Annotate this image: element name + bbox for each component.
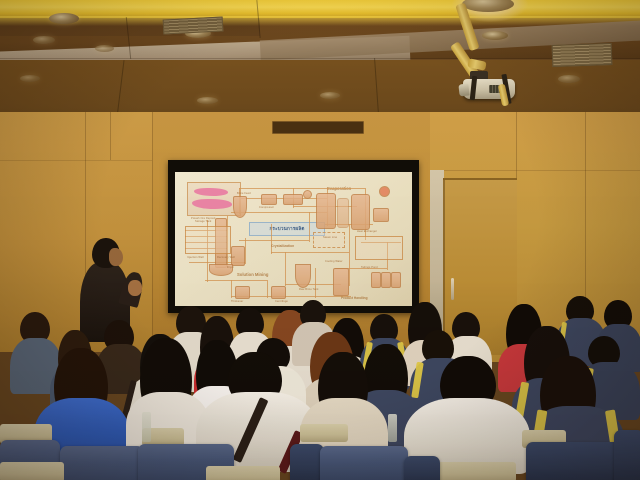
slide-pipe bbox=[239, 188, 365, 189]
slide-pipe bbox=[349, 224, 350, 286]
slide-pipe bbox=[239, 240, 309, 241]
slide-equipment-marker bbox=[379, 186, 390, 197]
projection-screen[interactable]: Potash Ore Deposit Evaporation Solution … bbox=[175, 172, 412, 306]
wall-seam bbox=[430, 170, 640, 171]
slide-equipment-tank bbox=[235, 286, 250, 299]
water-bottle[interactable] bbox=[142, 412, 151, 442]
slide-equipment-unit bbox=[283, 194, 303, 205]
slide-label: Compressor bbox=[259, 206, 274, 209]
slide-label: Tailings Pond bbox=[361, 266, 378, 269]
slide-section-label: Crystallization bbox=[271, 244, 294, 248]
slide-label: Injection Well bbox=[187, 256, 204, 259]
slide-equipment-column bbox=[351, 194, 370, 230]
ceiling-vent-grille bbox=[552, 43, 613, 67]
slide-equipment-tank bbox=[271, 286, 286, 299]
slide-group-box bbox=[313, 232, 345, 248]
slide-equipment-hopper bbox=[295, 264, 311, 288]
downlight-icon bbox=[49, 13, 79, 24]
slide-pipe bbox=[285, 252, 286, 286]
slide-label: Centrifuge bbox=[275, 300, 288, 303]
ceiling-vent-grille bbox=[163, 16, 224, 34]
fold-out-tablet-arm[interactable] bbox=[206, 466, 280, 480]
slide-pipe bbox=[271, 224, 272, 254]
slide-title-text: กระบวนการผลิต bbox=[269, 226, 304, 233]
slide-label: Storage Tank bbox=[195, 220, 211, 223]
slide-equipment-dryer bbox=[333, 268, 349, 296]
downlight-icon bbox=[33, 36, 55, 44]
slide-label: Thickener bbox=[231, 300, 243, 303]
presenter-hand bbox=[128, 280, 142, 296]
slide-equipment-building bbox=[373, 208, 389, 222]
slide-equipment-column bbox=[316, 193, 336, 229]
slide-section-label: Product Handling bbox=[341, 296, 368, 300]
auditorium-chair[interactable] bbox=[614, 430, 640, 480]
downlight-icon bbox=[20, 75, 40, 82]
ceiling-seam bbox=[0, 58, 640, 59]
fold-out-tablet-arm[interactable] bbox=[0, 462, 64, 480]
downlight-icon bbox=[95, 45, 114, 52]
slide-label: Dryer bbox=[227, 266, 234, 269]
slide-label: Steam Line bbox=[323, 236, 337, 239]
downlight-icon bbox=[558, 75, 580, 83]
slide-label: Heat Exchanger bbox=[357, 230, 377, 233]
slide-section-label: Solution Mining bbox=[237, 272, 268, 277]
slide-pipe bbox=[309, 212, 310, 242]
door-handle[interactable] bbox=[451, 278, 454, 300]
slide-label: Recovery Well bbox=[217, 256, 235, 259]
slide-equipment-silo bbox=[391, 272, 401, 288]
downlight-icon bbox=[320, 92, 340, 99]
slide-content: Potash Ore Deposit Evaporation Solution … bbox=[175, 172, 412, 306]
slide-pipe bbox=[205, 280, 267, 281]
slide-pipe bbox=[267, 280, 268, 298]
downlight-icon bbox=[197, 97, 218, 104]
auditorium-chair[interactable] bbox=[60, 446, 144, 480]
auditorium-chair[interactable] bbox=[526, 442, 624, 480]
auditorium-chair[interactable] bbox=[320, 446, 408, 480]
wall-seam bbox=[152, 112, 153, 347]
slide-equipment-valve bbox=[303, 190, 312, 199]
slide-pipe bbox=[231, 280, 232, 298]
downlight-icon bbox=[482, 31, 508, 40]
slide-label: Brine Feed bbox=[237, 192, 251, 195]
slide-equipment-silo bbox=[381, 272, 391, 288]
cove-light-glow bbox=[0, 16, 640, 26]
wall-seam bbox=[0, 160, 152, 161]
slide-equipment-column bbox=[337, 198, 349, 228]
map-region-shape bbox=[192, 199, 232, 209]
auditorium-chair[interactable] bbox=[290, 444, 324, 480]
slide-group-box bbox=[185, 226, 231, 254]
fold-out-tablet-arm[interactable] bbox=[436, 462, 516, 480]
water-bottle[interactable] bbox=[388, 414, 397, 442]
slide-pipe bbox=[245, 238, 246, 264]
slide-group-box bbox=[355, 236, 403, 260]
presenter-face bbox=[109, 248, 123, 266]
fold-out-tablet-arm[interactable] bbox=[300, 424, 348, 442]
wall-seam bbox=[110, 112, 111, 160]
slide-label: Raw Brine Tank bbox=[299, 288, 319, 291]
slide-equipment-pump bbox=[261, 194, 277, 205]
auditorium-chair[interactable] bbox=[404, 456, 440, 480]
map-region-shape bbox=[194, 188, 228, 196]
slide-label: Cooling Water bbox=[325, 260, 343, 263]
slide-pipe bbox=[315, 268, 316, 298]
wall-vent-slot bbox=[272, 121, 364, 134]
slide-equipment-silo bbox=[371, 272, 381, 288]
projector-lens-icon bbox=[458, 84, 469, 97]
lecture-hall-scene: Potash Ore Deposit Evaporation Solution … bbox=[0, 0, 640, 480]
slide-equipment-tank bbox=[233, 196, 247, 218]
slide-pipe bbox=[271, 252, 349, 253]
